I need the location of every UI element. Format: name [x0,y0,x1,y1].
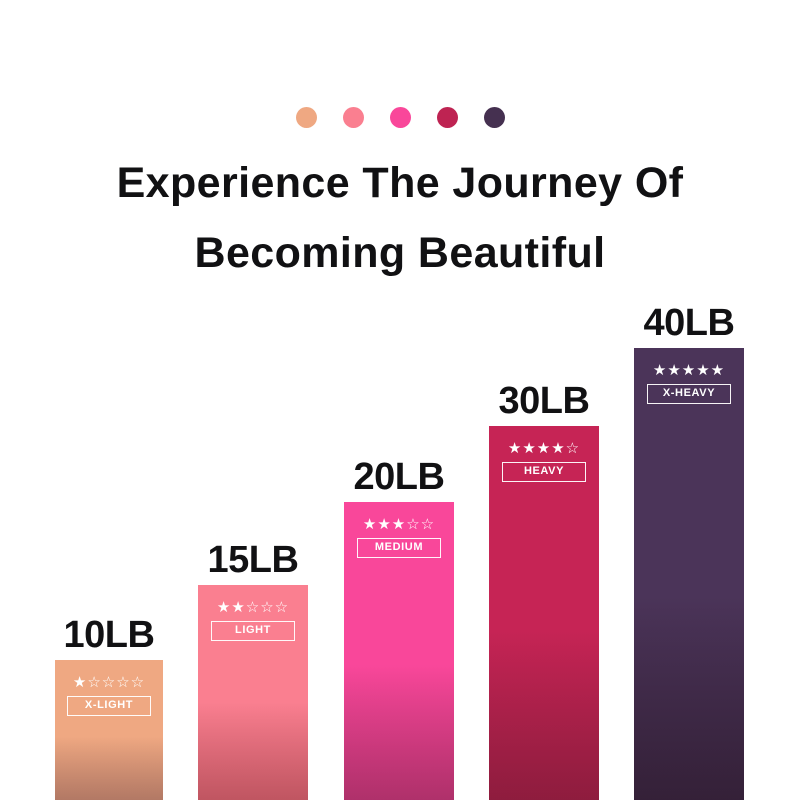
bar-column-light[interactable]: 15LB★★☆☆☆LIGHT [198,585,308,800]
dot-x-light [296,107,317,128]
weight-label: 15LB [208,541,299,579]
strength-badge: ★★★☆☆MEDIUM [357,516,441,558]
bar-column-heavy[interactable]: 30LB★★★★☆HEAVY [489,426,599,800]
promo-graphic: Experience The Journey Of Becoming Beaut… [0,0,800,800]
page-title: Experience The Journey Of Becoming Beaut… [0,148,800,288]
strength-badge: ★★☆☆☆LIGHT [211,599,295,641]
bar: ★★☆☆☆LIGHT [198,585,308,800]
strength-badge: ★☆☆☆☆X-LIGHT [67,674,151,716]
star-rating: ★☆☆☆☆ [67,674,151,690]
strength-label: LIGHT [211,621,295,641]
star-rating: ★★★★★ [647,362,731,378]
weight-label: 20LB [354,458,445,496]
strength-label: X-LIGHT [67,696,151,716]
star-rating: ★★☆☆☆ [211,599,295,615]
resistance-bar-chart: 10LB★☆☆☆☆X-LIGHT15LB★★☆☆☆LIGHT20LB★★★☆☆M… [0,280,800,800]
bar: ★★★★★X-HEAVY [634,348,744,800]
dot-medium [390,107,411,128]
strength-badge: ★★★★☆HEAVY [502,440,586,482]
bar-column-medium[interactable]: 20LB★★★☆☆MEDIUM [344,502,454,800]
strength-label: MEDIUM [357,538,441,558]
strength-label: X-HEAVY [647,384,731,404]
page-title-line-1: Experience The Journey Of [0,148,800,218]
bar: ★★★★☆HEAVY [489,426,599,800]
strength-badge: ★★★★★X-HEAVY [647,362,731,404]
weight-label: 40LB [644,304,735,342]
weight-label: 30LB [499,382,590,420]
dot-light [343,107,364,128]
dot-x-heavy [484,107,505,128]
bar-fill [634,348,744,800]
page-title-line-2: Becoming Beautiful [0,218,800,288]
color-swatch-row [0,105,800,129]
bar-fill [489,426,599,800]
bar: ★★★☆☆MEDIUM [344,502,454,800]
strength-label: HEAVY [502,462,586,482]
dot-heavy [437,107,458,128]
weight-label: 10LB [64,616,155,654]
bar-column-x-light[interactable]: 10LB★☆☆☆☆X-LIGHT [55,660,163,800]
bar: ★☆☆☆☆X-LIGHT [55,660,163,800]
bar-column-x-heavy[interactable]: 40LB★★★★★X-HEAVY [634,348,744,800]
star-rating: ★★★☆☆ [357,516,441,532]
star-rating: ★★★★☆ [502,440,586,456]
